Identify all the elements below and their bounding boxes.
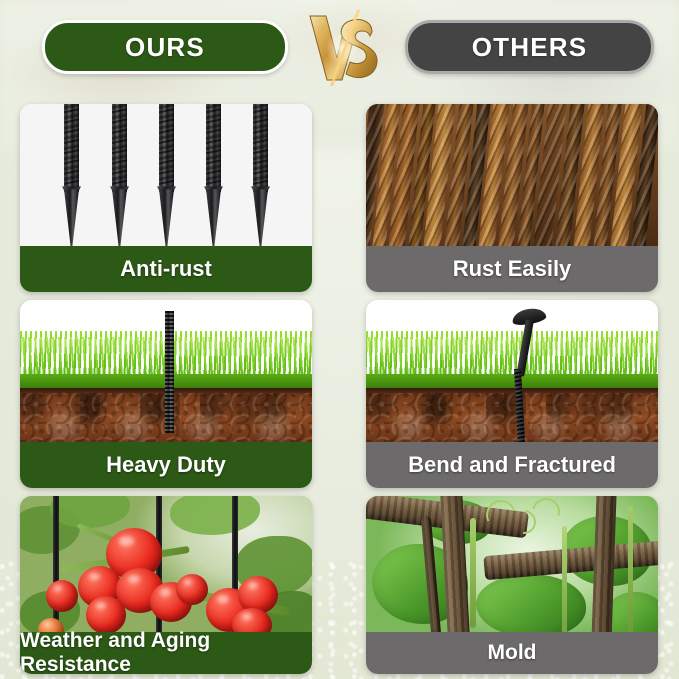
comparison-grid: Anti-rust [0,96,679,674]
ground-stake-icon [60,104,82,246]
ours-label: OURS [125,32,205,63]
ground-stake-icon [202,104,224,246]
caption-text: Heavy Duty [106,452,226,478]
panel-anti-rust: Anti-rust [20,104,312,292]
heavy-duty-image [20,300,312,442]
tomato-fruit [46,580,78,612]
vs-icon [300,6,384,90]
panel-caption: Rust Easily [366,246,658,292]
panel-caption: Bend and Fractured [366,442,658,488]
panel-rust-easily: Rust Easily [366,104,658,292]
tomato-fruit [86,596,126,632]
rusty-rebar-image [366,104,658,246]
panel-caption: Mold [366,632,658,674]
wooden-trellis-image [366,496,658,632]
ground-stake-icon [108,104,130,246]
caption-text: Anti-rust [120,256,212,282]
comparison-header: OURS [0,0,679,90]
bend-and-fractured-image [366,300,658,442]
tomato-plants-image [20,496,312,632]
panel-caption: Heavy Duty [20,442,312,488]
others-label: OTHERS [472,32,588,63]
panel-heavy-duty: Heavy Duty [20,300,312,488]
caption-text: Mold [488,641,537,665]
straight-stake-icon [165,311,174,433]
ours-badge: OURS [42,20,288,74]
anti-rust-image [20,104,312,246]
caption-text: Weather and Aging Resistance [20,629,312,674]
ground-stake-icon [155,104,177,246]
bent-nail-icon [494,309,554,440]
panel-mold: Mold [366,496,658,674]
tomato-fruit [176,574,208,605]
panel-weather-aging-resistance: Weather and Aging Resistance [20,496,312,674]
panel-caption: Anti-rust [20,246,312,292]
caption-text: Rust Easily [453,256,572,282]
caption-text: Bend and Fractured [408,452,616,478]
panel-bend-and-fractured: Bend and Fractured [366,300,658,488]
ground-stake-icon [249,104,271,246]
panel-caption: Weather and Aging Resistance [20,632,312,674]
others-badge: OTHERS [405,20,654,74]
